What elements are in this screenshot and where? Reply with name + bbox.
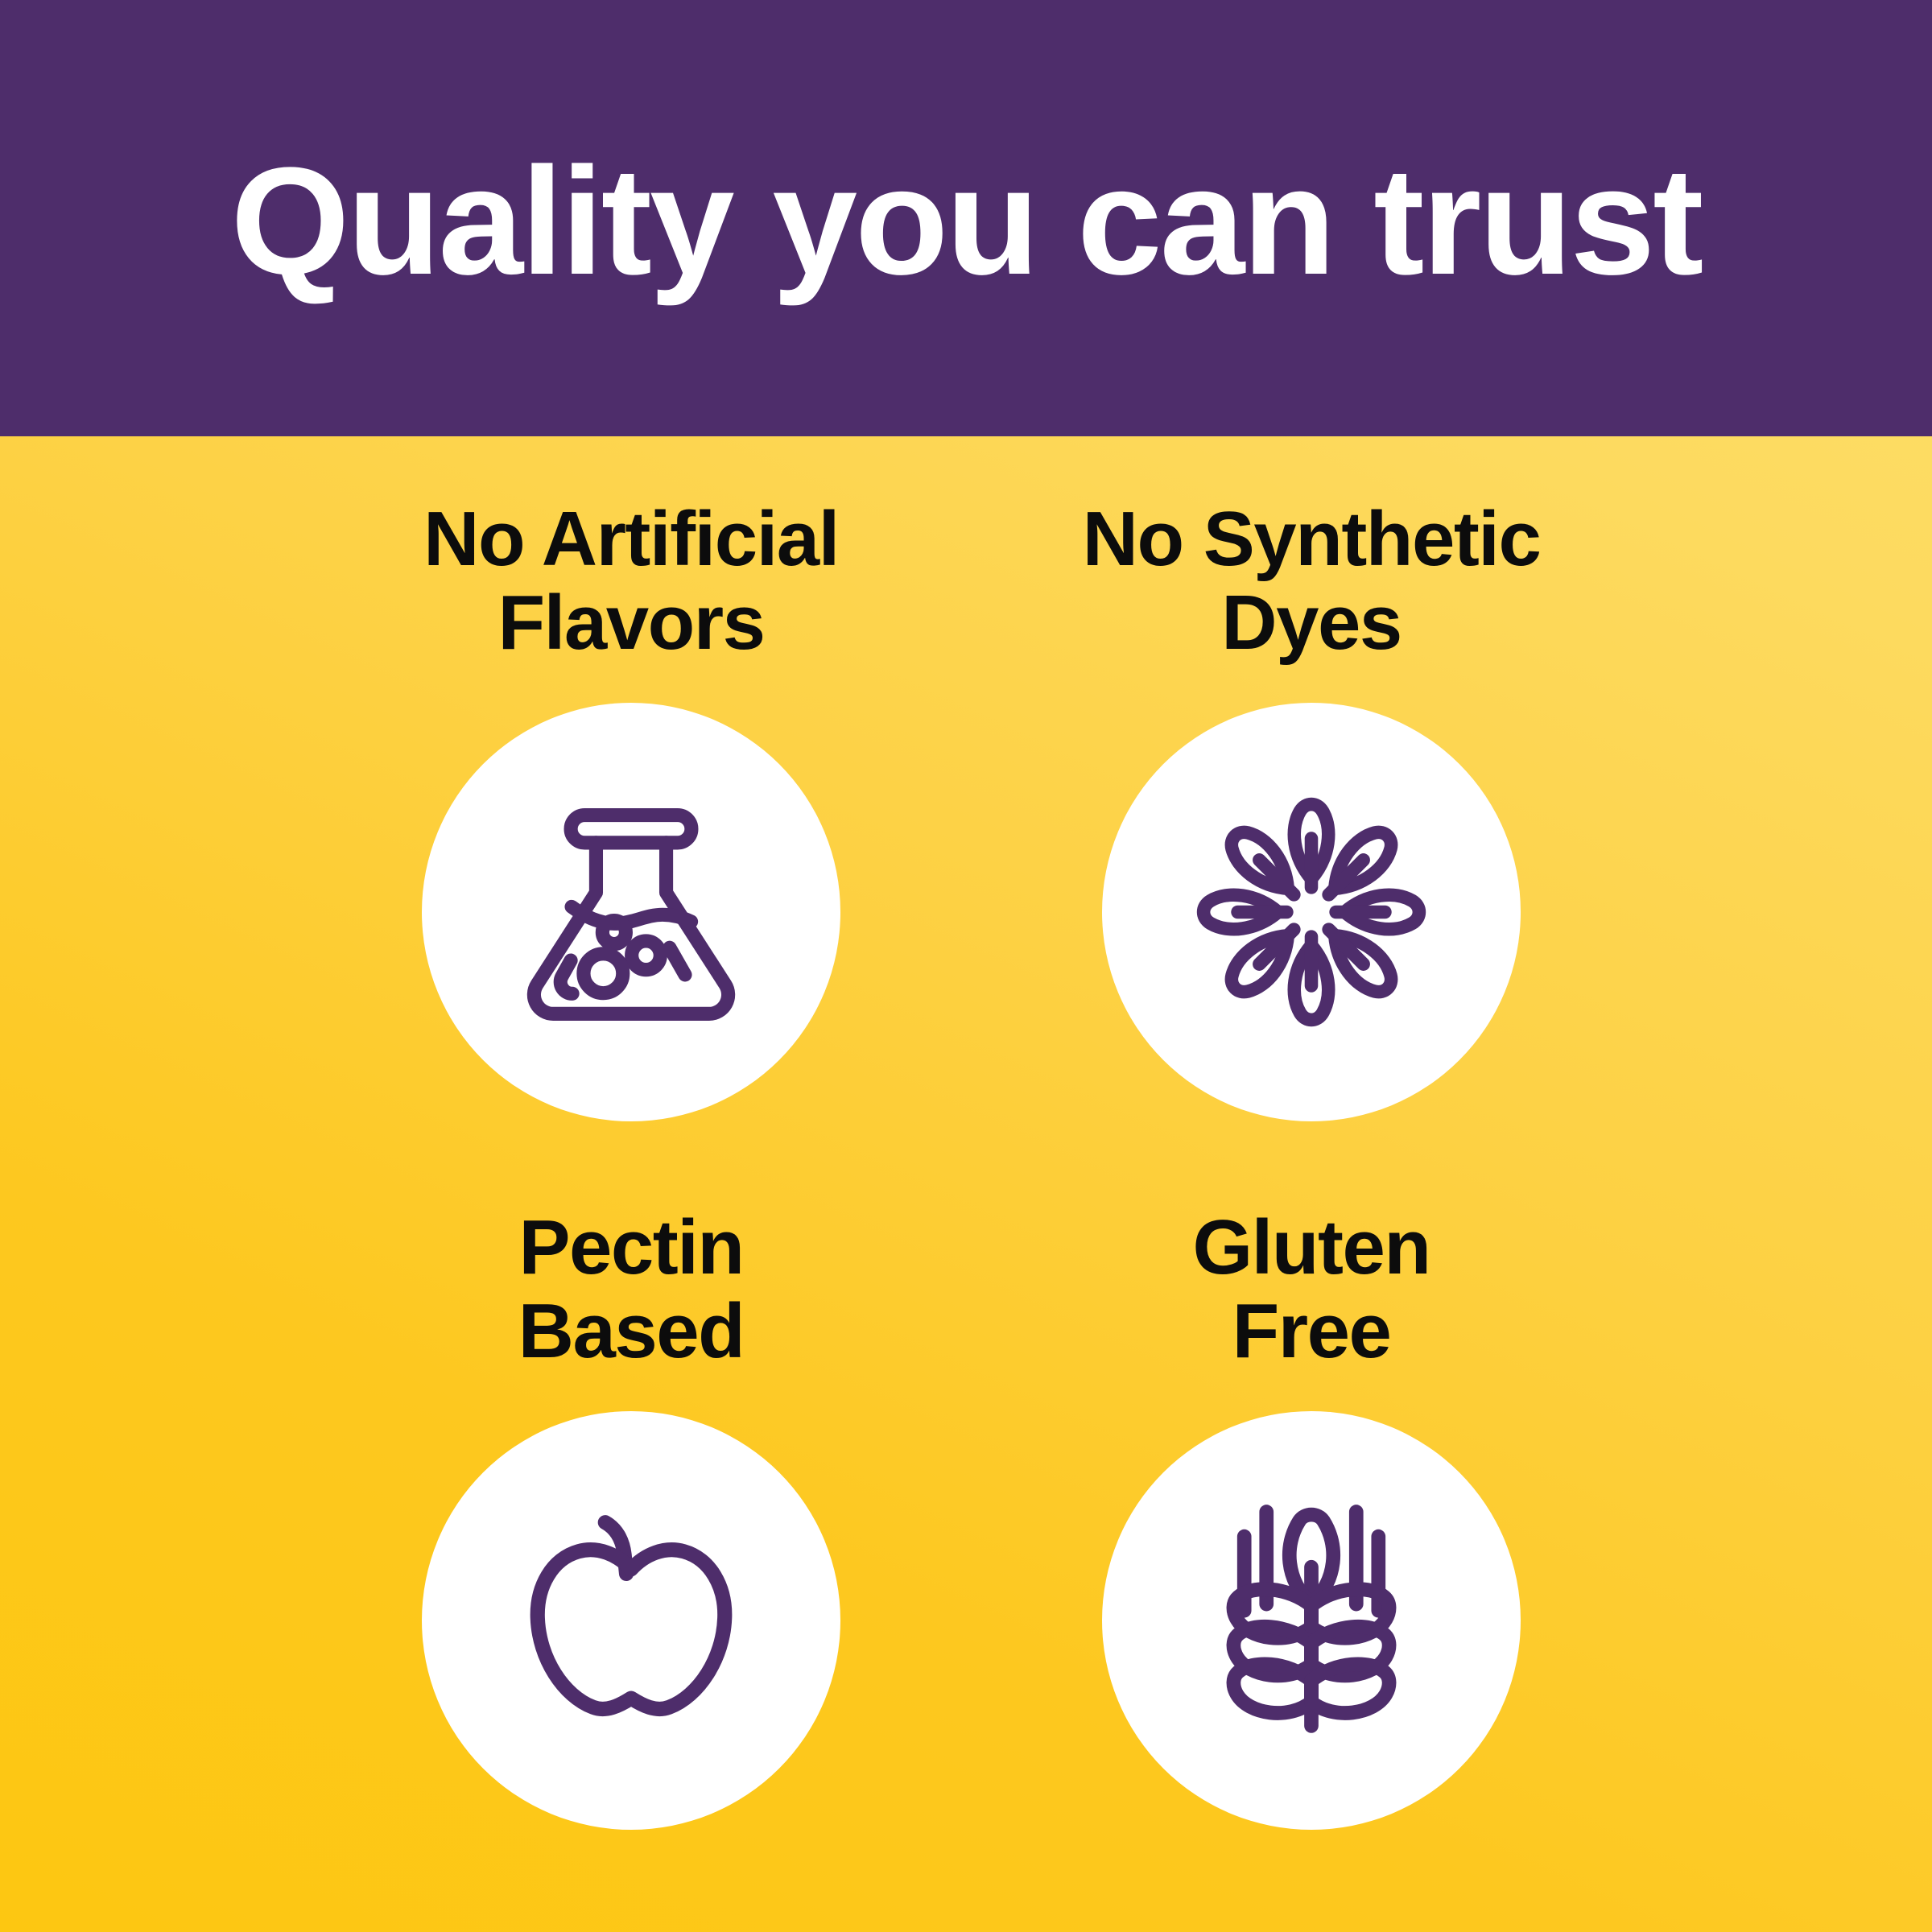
icon-circle xyxy=(422,1411,840,1830)
feature-gluten-free: Gluten Free xyxy=(973,1206,1649,1830)
feature-label: No Synthetic Dyes xyxy=(1083,497,1541,664)
apple-icon xyxy=(490,1480,772,1761)
feature-pectin-based: Pectin Based xyxy=(293,1206,969,1830)
feature-label: No Artificial Flavors xyxy=(423,497,839,664)
wheat-stalk-icon xyxy=(1174,1484,1448,1757)
feature-label: Pectin Based xyxy=(518,1206,745,1373)
feature-label: Gluten Free xyxy=(1193,1206,1430,1373)
quality-badge-graphic: Quality you can trust No Artificial Flav… xyxy=(0,0,1932,1932)
icon-circle xyxy=(422,703,840,1121)
feature-no-artificial-flavors: No Artificial Flavors xyxy=(293,497,969,1121)
erlenmeyer-flask-icon xyxy=(498,779,764,1045)
feature-no-synthetic-dyes: No Synthetic Dyes xyxy=(973,497,1649,1121)
icon-circle xyxy=(1102,1411,1521,1830)
header-band: Quality you can trust xyxy=(0,0,1932,436)
dye-splash-icon xyxy=(1166,767,1456,1057)
feature-grid: No Artificial Flavors xyxy=(0,436,1932,1932)
icon-circle xyxy=(1102,703,1521,1121)
page-title: Quality you can trust xyxy=(0,0,1932,436)
